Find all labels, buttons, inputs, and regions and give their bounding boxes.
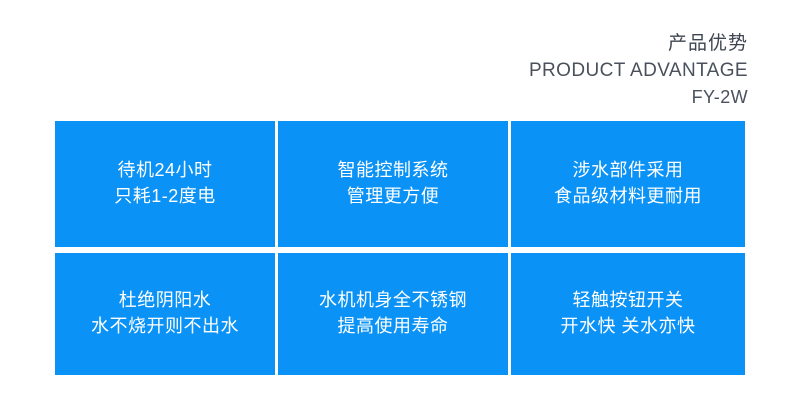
advantage-card-line-1: 待机24小时 xyxy=(117,158,212,184)
advantage-card-line-2: 提高使用寿命 xyxy=(338,314,449,340)
page-title-chinese: 产品优势 xyxy=(529,34,748,53)
advantage-card-standby-power: 待机24小时 只耗1-2度电 xyxy=(55,121,275,247)
advantage-card-line-2: 开水快 关水亦快 xyxy=(560,314,695,340)
advantage-card-smart-control: 智能控制系统 管理更方便 xyxy=(278,121,508,247)
advantage-card-line-2: 只耗1-2度电 xyxy=(114,184,216,210)
advantage-card-line-1: 轻触按钮开关 xyxy=(573,288,684,314)
advantage-card-no-mixed-water: 杜绝阴阳水 水不烧开则不出水 xyxy=(55,253,275,375)
page-title-english: PRODUCT ADVANTAGE xyxy=(529,61,748,80)
advantage-card-line-1: 水机机身全不锈钢 xyxy=(319,288,467,314)
product-advantage-header: 产品优势 PRODUCT ADVANTAGE FY-2W xyxy=(529,34,748,106)
advantage-card-line-2: 食品级材料更耐用 xyxy=(554,184,702,210)
advantage-grid: 待机24小时 只耗1-2度电 智能控制系统 管理更方便 涉水部件采用 食品级材料… xyxy=(55,121,745,375)
advantage-card-line-1: 杜绝阴阳水 xyxy=(119,288,212,314)
advantage-card-food-grade-material: 涉水部件采用 食品级材料更耐用 xyxy=(511,121,745,247)
advantage-card-line-2: 管理更方便 xyxy=(347,184,440,210)
advantage-card-line-1: 智能控制系统 xyxy=(338,158,449,184)
advantage-card-stainless-steel-body: 水机机身全不锈钢 提高使用寿命 xyxy=(278,253,508,375)
advantage-card-line-2: 水不烧开则不出水 xyxy=(91,314,239,340)
product-model-label: FY-2W xyxy=(529,88,748,106)
advantage-card-touch-button-switch: 轻触按钮开关 开水快 关水亦快 xyxy=(511,253,745,375)
advantage-card-line-1: 涉水部件采用 xyxy=(573,158,684,184)
